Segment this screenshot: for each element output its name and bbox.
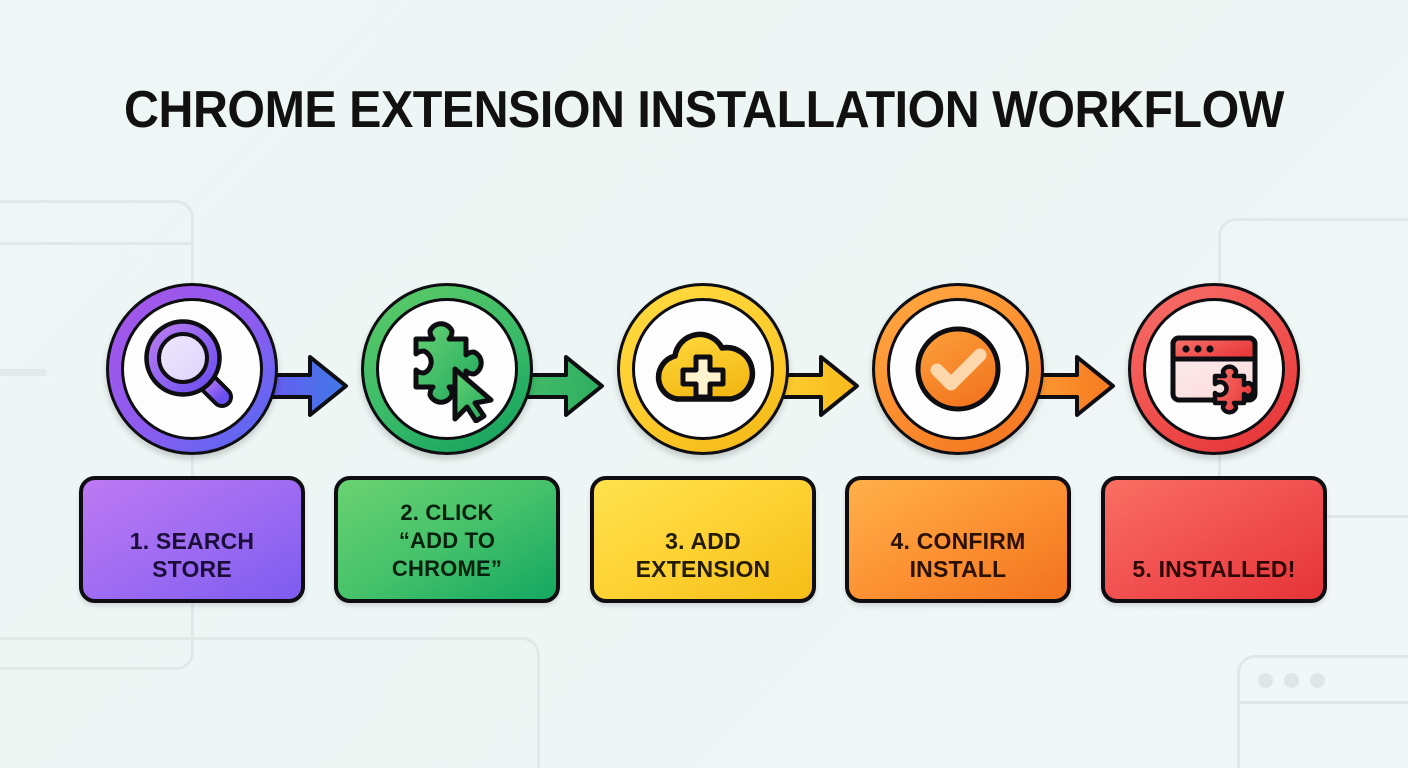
step-1-icon-area	[121, 298, 263, 440]
step-4-label: 4. CONFIRM INSTALL	[887, 527, 1030, 583]
browser-window-puzzle-icon	[1161, 316, 1267, 422]
workflow-step-4[interactable]: 4. CONFIRM INSTALL	[845, 283, 1071, 613]
step-3-circle[interactable]	[617, 283, 789, 455]
workflow-step-5[interactable]: 5. INSTALLED!	[1101, 283, 1327, 613]
step-3-icon-area	[632, 298, 774, 440]
decorative-window-titlebar	[0, 203, 191, 245]
step-2-circle[interactable]	[361, 283, 533, 455]
decorative-window-dot	[1258, 673, 1273, 688]
step-3-label-plate[interactable]: 3. ADD EXTENSION	[590, 476, 816, 603]
puzzle-piece-cursor-icon	[393, 315, 501, 423]
step-2-icon-area	[376, 298, 518, 440]
step-1-label: 1. SEARCH STORE	[126, 527, 259, 583]
decorative-browser-bottom-right	[1237, 655, 1408, 768]
step-4-icon-area	[887, 298, 1029, 440]
decorative-window-dot	[1310, 673, 1325, 688]
decorative-window-bottom-left	[0, 637, 540, 768]
magnifying-glass-icon	[138, 315, 246, 423]
step-4-circle[interactable]	[872, 283, 1044, 455]
workflow-steps: 1. SEARCH STORE	[0, 283, 1408, 613]
step-4-label-plate[interactable]: 4. CONFIRM INSTALL	[845, 476, 1071, 603]
step-5-circle[interactable]	[1128, 283, 1300, 455]
step-1-circle[interactable]	[106, 283, 278, 455]
workflow-step-3[interactable]: 3. ADD EXTENSION	[590, 283, 816, 613]
step-3-label: 3. ADD EXTENSION	[632, 527, 775, 583]
step-1-label-plate[interactable]: 1. SEARCH STORE	[79, 476, 305, 603]
page-title: CHROME EXTENSION INSTALLATION WORKFLOW	[49, 80, 1358, 140]
decorative-window-dot	[1284, 673, 1299, 688]
step-2-label-plate[interactable]: 2. CLICK “ADD TO CHROME”	[334, 476, 560, 603]
step-5-label-plate[interactable]: 5. INSTALLED!	[1101, 476, 1327, 603]
step-5-label: 5. INSTALLED!	[1128, 555, 1299, 583]
cloud-plus-icon	[647, 313, 759, 425]
workflow-step-2[interactable]: 2. CLICK “ADD TO CHROME”	[334, 283, 560, 613]
infographic-canvas: CHROME EXTENSION INSTALLATION WORKFLOW	[0, 0, 1408, 768]
check-circle-icon	[906, 317, 1010, 421]
decorative-browser-titlebar	[1240, 658, 1408, 704]
workflow-step-1[interactable]: 1. SEARCH STORE	[79, 283, 305, 613]
step-5-icon-area	[1143, 298, 1285, 440]
step-2-label: 2. CLICK “ADD TO CHROME”	[338, 499, 556, 583]
